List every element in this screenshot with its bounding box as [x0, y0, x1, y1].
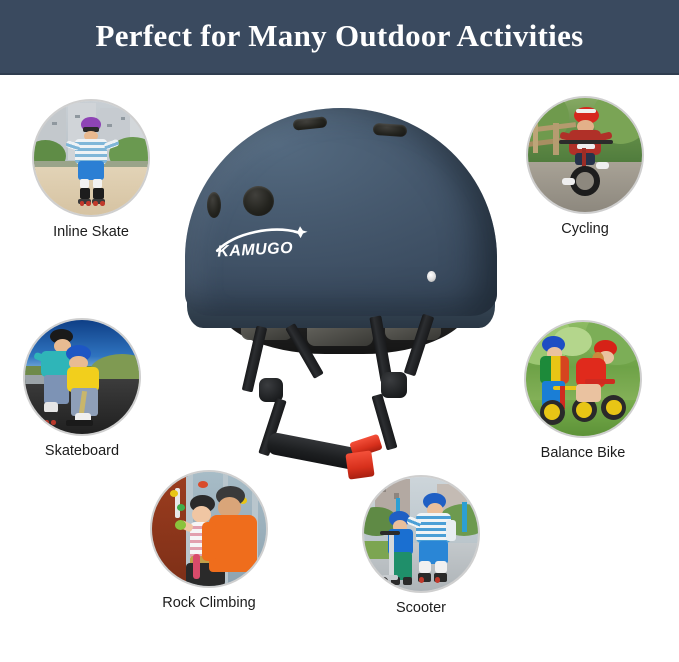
page-title: Perfect for Many Outdoor Activities [95, 20, 583, 53]
photo-skateboard [25, 320, 139, 434]
photo-rock-climbing [152, 472, 266, 586]
brand-logo: KAMUGO [212, 223, 324, 269]
photo-cycling [528, 98, 642, 212]
vent-icon [207, 192, 221, 218]
activity-balance-bike: Balance Bike [518, 320, 648, 461]
vent-icon [293, 116, 328, 130]
photo-balance-bike [526, 322, 640, 436]
photo-inline-skate [34, 101, 148, 215]
activity-label: Balance Bike [518, 445, 648, 461]
activity-scooter: Scooter [356, 475, 486, 616]
product-helmet-image: KAMUGO [163, 100, 518, 490]
activity-label: Rock Climbing [144, 595, 274, 611]
activity-photo-cycling [526, 96, 644, 214]
vent-icon [373, 123, 408, 137]
activity-label: Inline Skate [26, 224, 156, 240]
header-banner: Perfect for Many Outdoor Activities [0, 0, 679, 75]
activity-photo-inline-skate [32, 99, 150, 217]
activity-label: Scooter [356, 600, 486, 616]
helmet-shell: KAMUGO [185, 108, 497, 316]
activity-skateboard: Skateboard [17, 318, 147, 459]
photo-scooter [364, 477, 478, 591]
activity-cycling: Cycling [520, 96, 650, 237]
activity-label: Cycling [520, 221, 650, 237]
activity-label: Skateboard [17, 443, 147, 459]
shell-rivet-icon [427, 271, 436, 282]
activity-photo-balance-bike [524, 320, 642, 438]
activity-rock-climbing: Rock Climbing [144, 470, 274, 611]
vent-icon [243, 186, 274, 216]
activity-photo-rock-climbing [150, 470, 268, 588]
activity-inline-skate: Inline Skate [26, 99, 156, 240]
activity-photo-skateboard [23, 318, 141, 436]
activity-photo-scooter [362, 475, 480, 593]
strap-splitter-right [381, 372, 407, 398]
